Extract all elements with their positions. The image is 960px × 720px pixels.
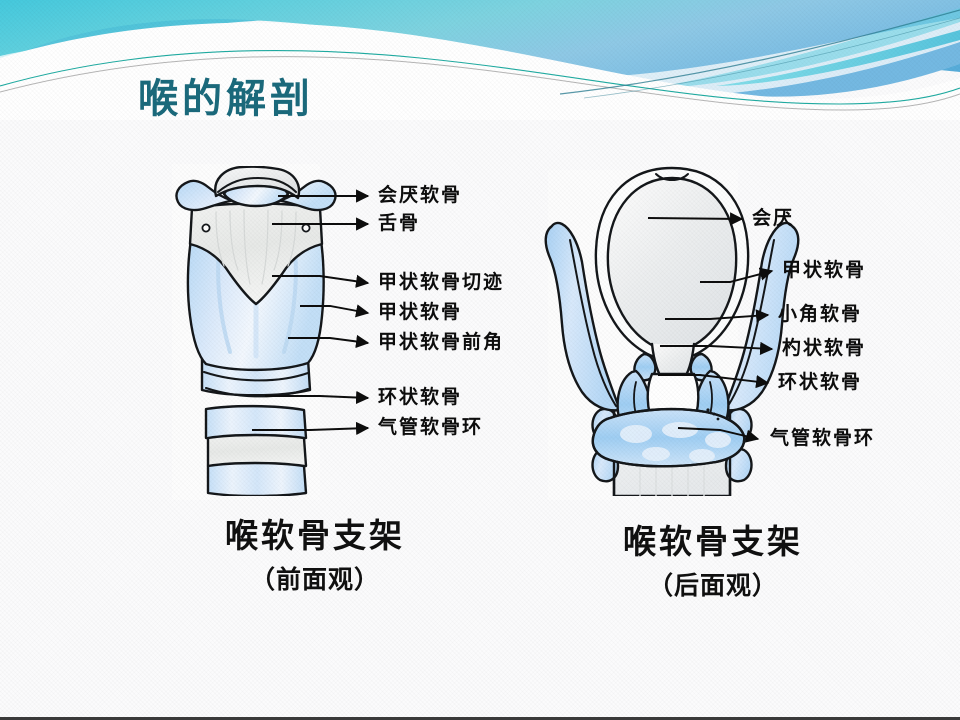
caption-posterior-main: 喉软骨支架 [548,522,878,562]
page-title: 喉的解剖 [138,78,314,120]
presentation-slide: 喉的解剖 [0,0,960,720]
label-posterior-4: 环状软骨 [778,373,862,392]
label-posterior-2: 小角软骨 [778,305,862,324]
label-posterior-1: 甲状软骨 [782,261,866,280]
label-anterior-0: 会厌软骨 [378,186,462,205]
caption-anterior-main: 喉软骨支架 [150,516,480,556]
label-anterior-1: 舌骨 [378,214,420,233]
label-posterior-5: 气管软骨环 [770,429,875,448]
label-posterior-0: 会厌 [752,209,794,228]
posterior-larynx-drawing [540,166,940,496]
figure-posterior-larynx [540,166,940,496]
caption-posterior-sub: （后面观） [548,570,878,603]
label-anterior-6: 气管软骨环 [378,418,483,437]
label-anterior-2: 甲状软骨切迹 [378,273,504,292]
caption-anterior: 喉软骨支架 （前面观） [150,516,480,596]
caption-anterior-sub: （前面观） [150,564,480,597]
label-anterior-3: 甲状软骨 [378,303,462,322]
label-posterior-3: 杓状软骨 [782,339,866,358]
caption-posterior: 喉软骨支架 （后面观） [548,522,878,602]
label-anterior-4: 甲状软骨前角 [378,333,504,352]
label-anterior-5: 环状软骨 [378,388,462,407]
